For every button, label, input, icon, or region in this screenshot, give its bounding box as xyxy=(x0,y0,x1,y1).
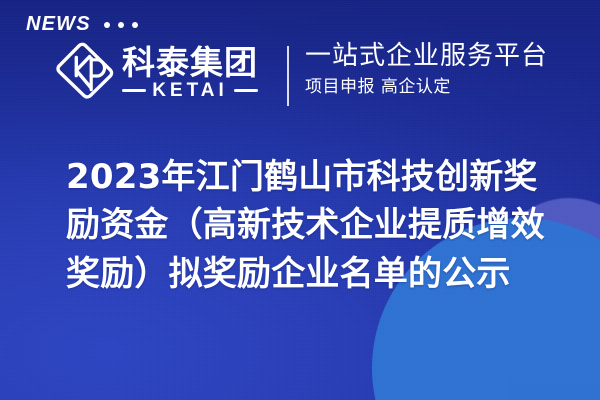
brand-wordmark: 科泰集团 KETAI xyxy=(122,46,258,100)
news-poster: NEWS xyxy=(0,0,600,400)
tagline-main: 一站式企业服务平台 xyxy=(305,40,548,73)
news-eyebrow: NEWS xyxy=(26,14,138,34)
news-dot-icon xyxy=(132,22,138,28)
poster-headline: 2023年江门鹤山市科技创新奖励资金（高新技术企业提质增效奖励）拟奖励企业名单的… xyxy=(66,153,558,298)
tagline-sub: 项目申报 高企认定 xyxy=(305,76,548,99)
brand-name-en-row: KETAI xyxy=(122,81,258,100)
poster-content: NEWS xyxy=(0,0,600,400)
brand-rule-right xyxy=(234,89,258,92)
brand-name-cn: 科泰集团 xyxy=(122,46,258,80)
brand-lockup: 科泰集团 KETAI xyxy=(52,40,258,106)
news-dot-icon xyxy=(118,22,124,28)
news-dot-icon xyxy=(104,22,110,28)
news-label: NEWS xyxy=(26,14,91,34)
brand-rule-left xyxy=(122,89,146,92)
tagline-block: 一站式企业服务平台 项目申报 高企认定 xyxy=(305,40,548,98)
news-dots-icon xyxy=(104,20,138,28)
brand-divider xyxy=(287,46,289,106)
brand-name-en: KETAI xyxy=(152,81,228,100)
ketai-logo-icon xyxy=(52,40,118,106)
